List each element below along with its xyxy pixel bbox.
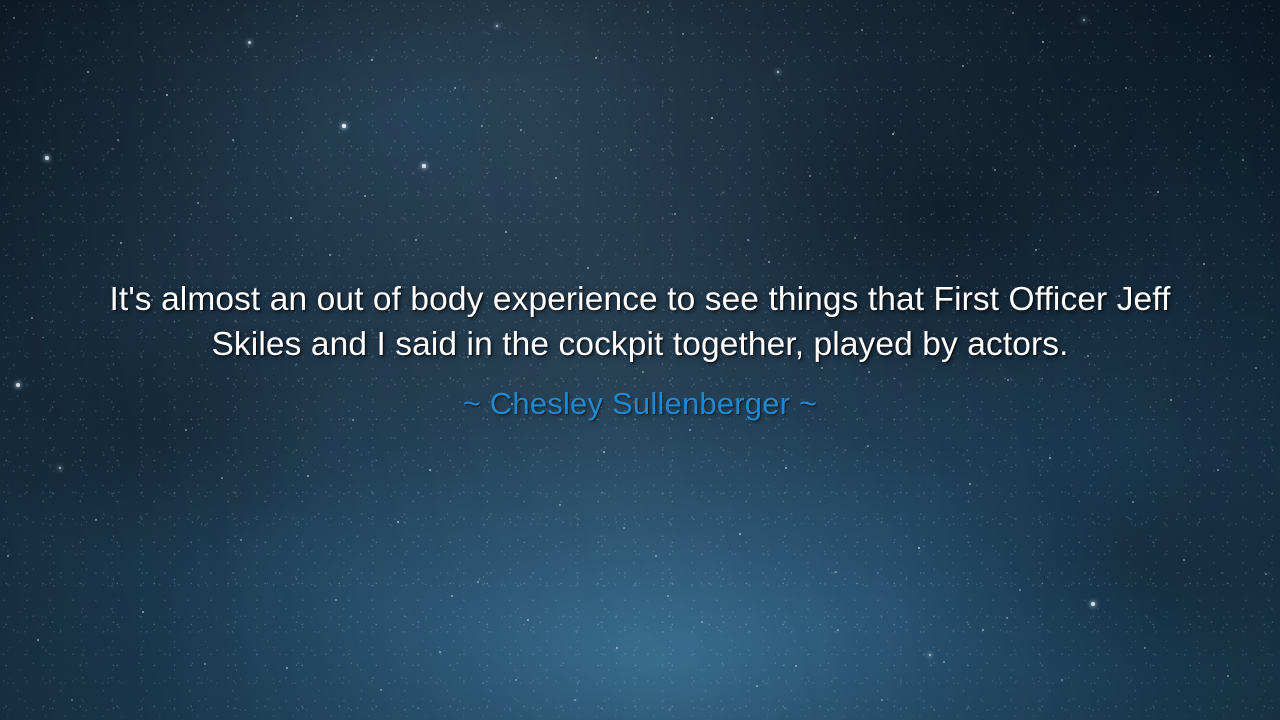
quote-text-block: It's almost an out of body experience to… xyxy=(0,0,1280,720)
quote-card: It's almost an out of body experience to… xyxy=(0,0,1280,720)
quote-author: ~ Chesley Sullenberger ~ xyxy=(463,367,818,423)
quote-text: It's almost an out of body experience to… xyxy=(96,277,1184,367)
